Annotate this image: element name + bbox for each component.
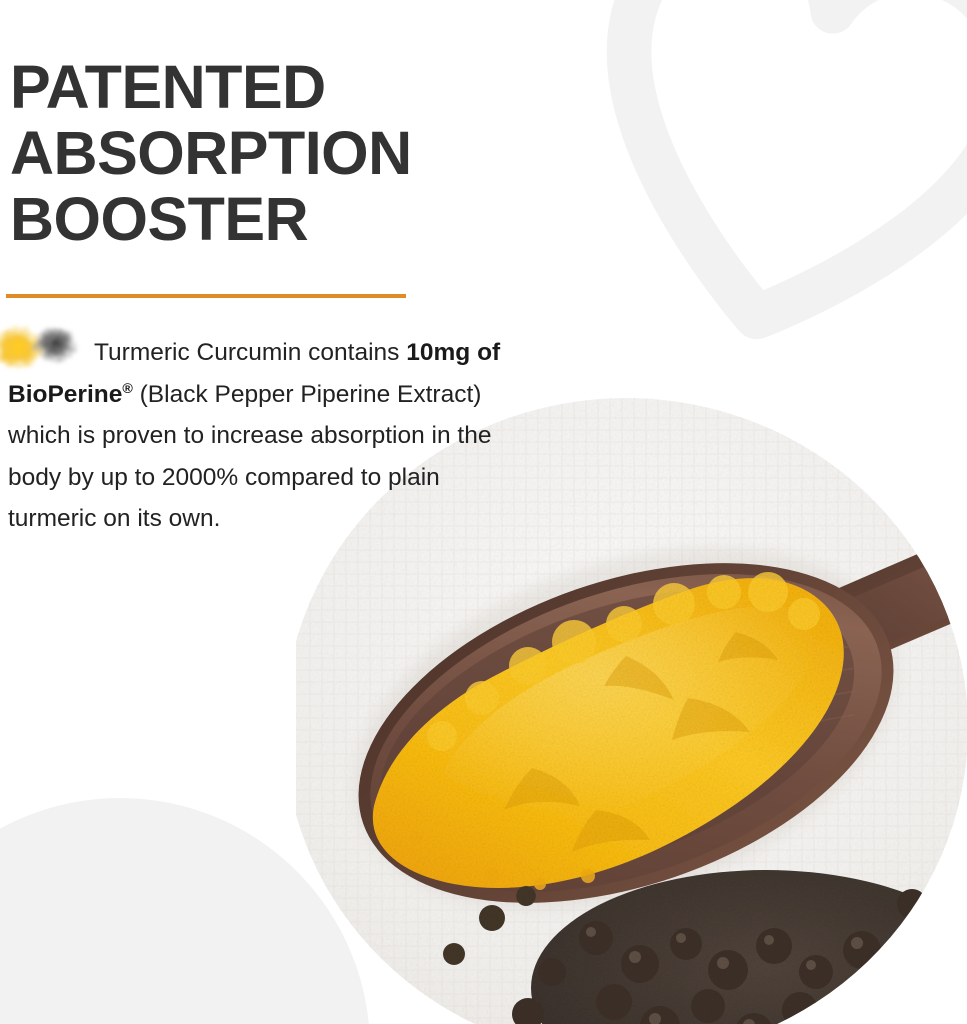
page-title: PATENTED ABSORPTION BOOSTER [10,54,570,252]
orange-divider [6,294,406,298]
dose-amount: 10mg [406,339,470,366]
headline-line-3: BOOSTER [10,186,570,252]
heart-outline-icon [516,0,967,424]
circle-shape [0,798,370,1024]
headline-line-2: ABSORPTION [10,120,570,186]
headline-line-1: PATENTED [10,54,570,120]
registered-trademark-symbol: ® [122,380,132,396]
marketing-image-canvas: PATENTED ABSORPTION BOOSTER [0,0,967,1024]
body-paragraph: Turmeric Curcumin contains 10mg of BioPe… [8,332,528,540]
body-segment-1: Turmeric Curcumin contains [94,339,406,366]
